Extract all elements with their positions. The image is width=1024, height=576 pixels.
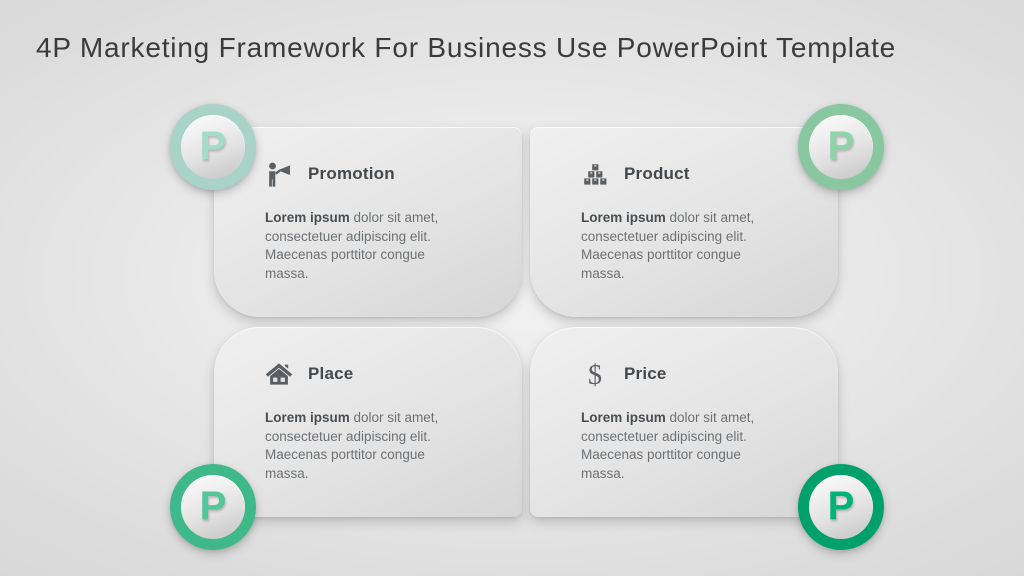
badge-inner-top-left: P [181, 115, 245, 179]
card-header-product: Product [580, 157, 690, 191]
slide-canvas: 4P Marketing Framework For Business Use … [0, 0, 1024, 576]
card-title-price: Price [624, 364, 667, 384]
dollar-sign-icon: $ [580, 359, 610, 389]
card-body-product: Lorem ipsum dolor sit amet, consectetuer… [581, 209, 781, 283]
card-header-place: Place [264, 357, 353, 391]
card-body-strong-place: Lorem ipsum [265, 410, 350, 425]
badge-p-bottom-left[interactable]: P [170, 464, 256, 550]
megaphone-person-icon [264, 159, 294, 189]
four-p-card-grid: Promotion Lorem ipsum dolor sit amet, co… [214, 127, 838, 517]
card-body-strong-product: Lorem ipsum [581, 210, 666, 225]
card-body-promotion: Lorem ipsum dolor sit amet, consectetuer… [265, 209, 465, 283]
badge-inner-bottom-right: P [809, 475, 873, 539]
card-title-product: Product [624, 164, 690, 184]
card-title-promotion: Promotion [308, 164, 395, 184]
card-header-promotion: Promotion [264, 157, 395, 191]
page-title: 4P Marketing Framework For Business Use … [36, 32, 986, 64]
card-body-strong-promotion: Lorem ipsum [265, 210, 350, 225]
card-title-place: Place [308, 364, 353, 384]
stacked-boxes-icon [580, 159, 610, 189]
badge-p-top-left[interactable]: P [170, 104, 256, 190]
badge-inner-bottom-left: P [181, 475, 245, 539]
badge-inner-top-right: P [809, 115, 873, 179]
card-price[interactable]: $ Price Lorem ipsum dolor sit amet, cons… [530, 327, 838, 517]
badge-letter-top-right: P [828, 126, 855, 166]
badge-p-bottom-right[interactable]: P [798, 464, 884, 550]
badge-letter-top-left: P [200, 126, 227, 166]
card-body-place: Lorem ipsum dolor sit amet, consectetuer… [265, 409, 465, 483]
card-body-price: Lorem ipsum dolor sit amet, consectetuer… [581, 409, 781, 483]
badge-p-top-right[interactable]: P [798, 104, 884, 190]
card-body-strong-price: Lorem ipsum [581, 410, 666, 425]
card-place[interactable]: Place Lorem ipsum dolor sit amet, consec… [214, 327, 522, 517]
svg-text:$: $ [588, 360, 602, 388]
badge-letter-bottom-left: P [200, 486, 227, 526]
card-product[interactable]: Product Lorem ipsum dolor sit amet, cons… [530, 127, 838, 317]
badge-letter-bottom-right: P [828, 486, 855, 526]
house-icon [264, 359, 294, 389]
card-header-price: $ Price [580, 357, 667, 391]
card-promotion[interactable]: Promotion Lorem ipsum dolor sit amet, co… [214, 127, 522, 317]
